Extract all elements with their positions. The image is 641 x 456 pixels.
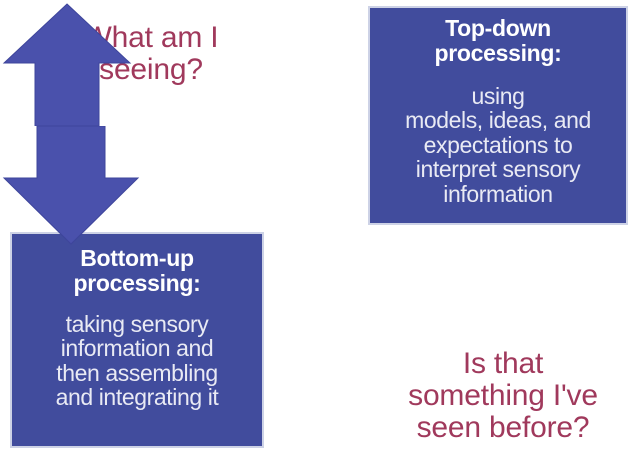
arrow-down-icon (0, 126, 142, 248)
question-is-that-something-ive-seen-before: Is that something I've seen before? (378, 348, 628, 443)
concept-box-bottom-up: Bottom-up processing: taking sensory inf… (10, 232, 264, 448)
arrow-up-shape (0, 0, 134, 126)
arrow-down-shape (0, 126, 142, 248)
top-down-title: Top-down processing: (434, 16, 561, 66)
bottom-up-title: Bottom-up processing: (73, 246, 200, 296)
diagram-canvas: What am I seeing? Bottom-up processing: … (0, 0, 641, 456)
top-down-body: using models, ideas, and expectations to… (405, 84, 591, 207)
concept-box-top-down: Top-down processing: using models, ideas… (368, 6, 628, 225)
arrow-up-icon (0, 0, 134, 126)
bottom-up-body: taking sensory information and then asse… (56, 312, 219, 410)
